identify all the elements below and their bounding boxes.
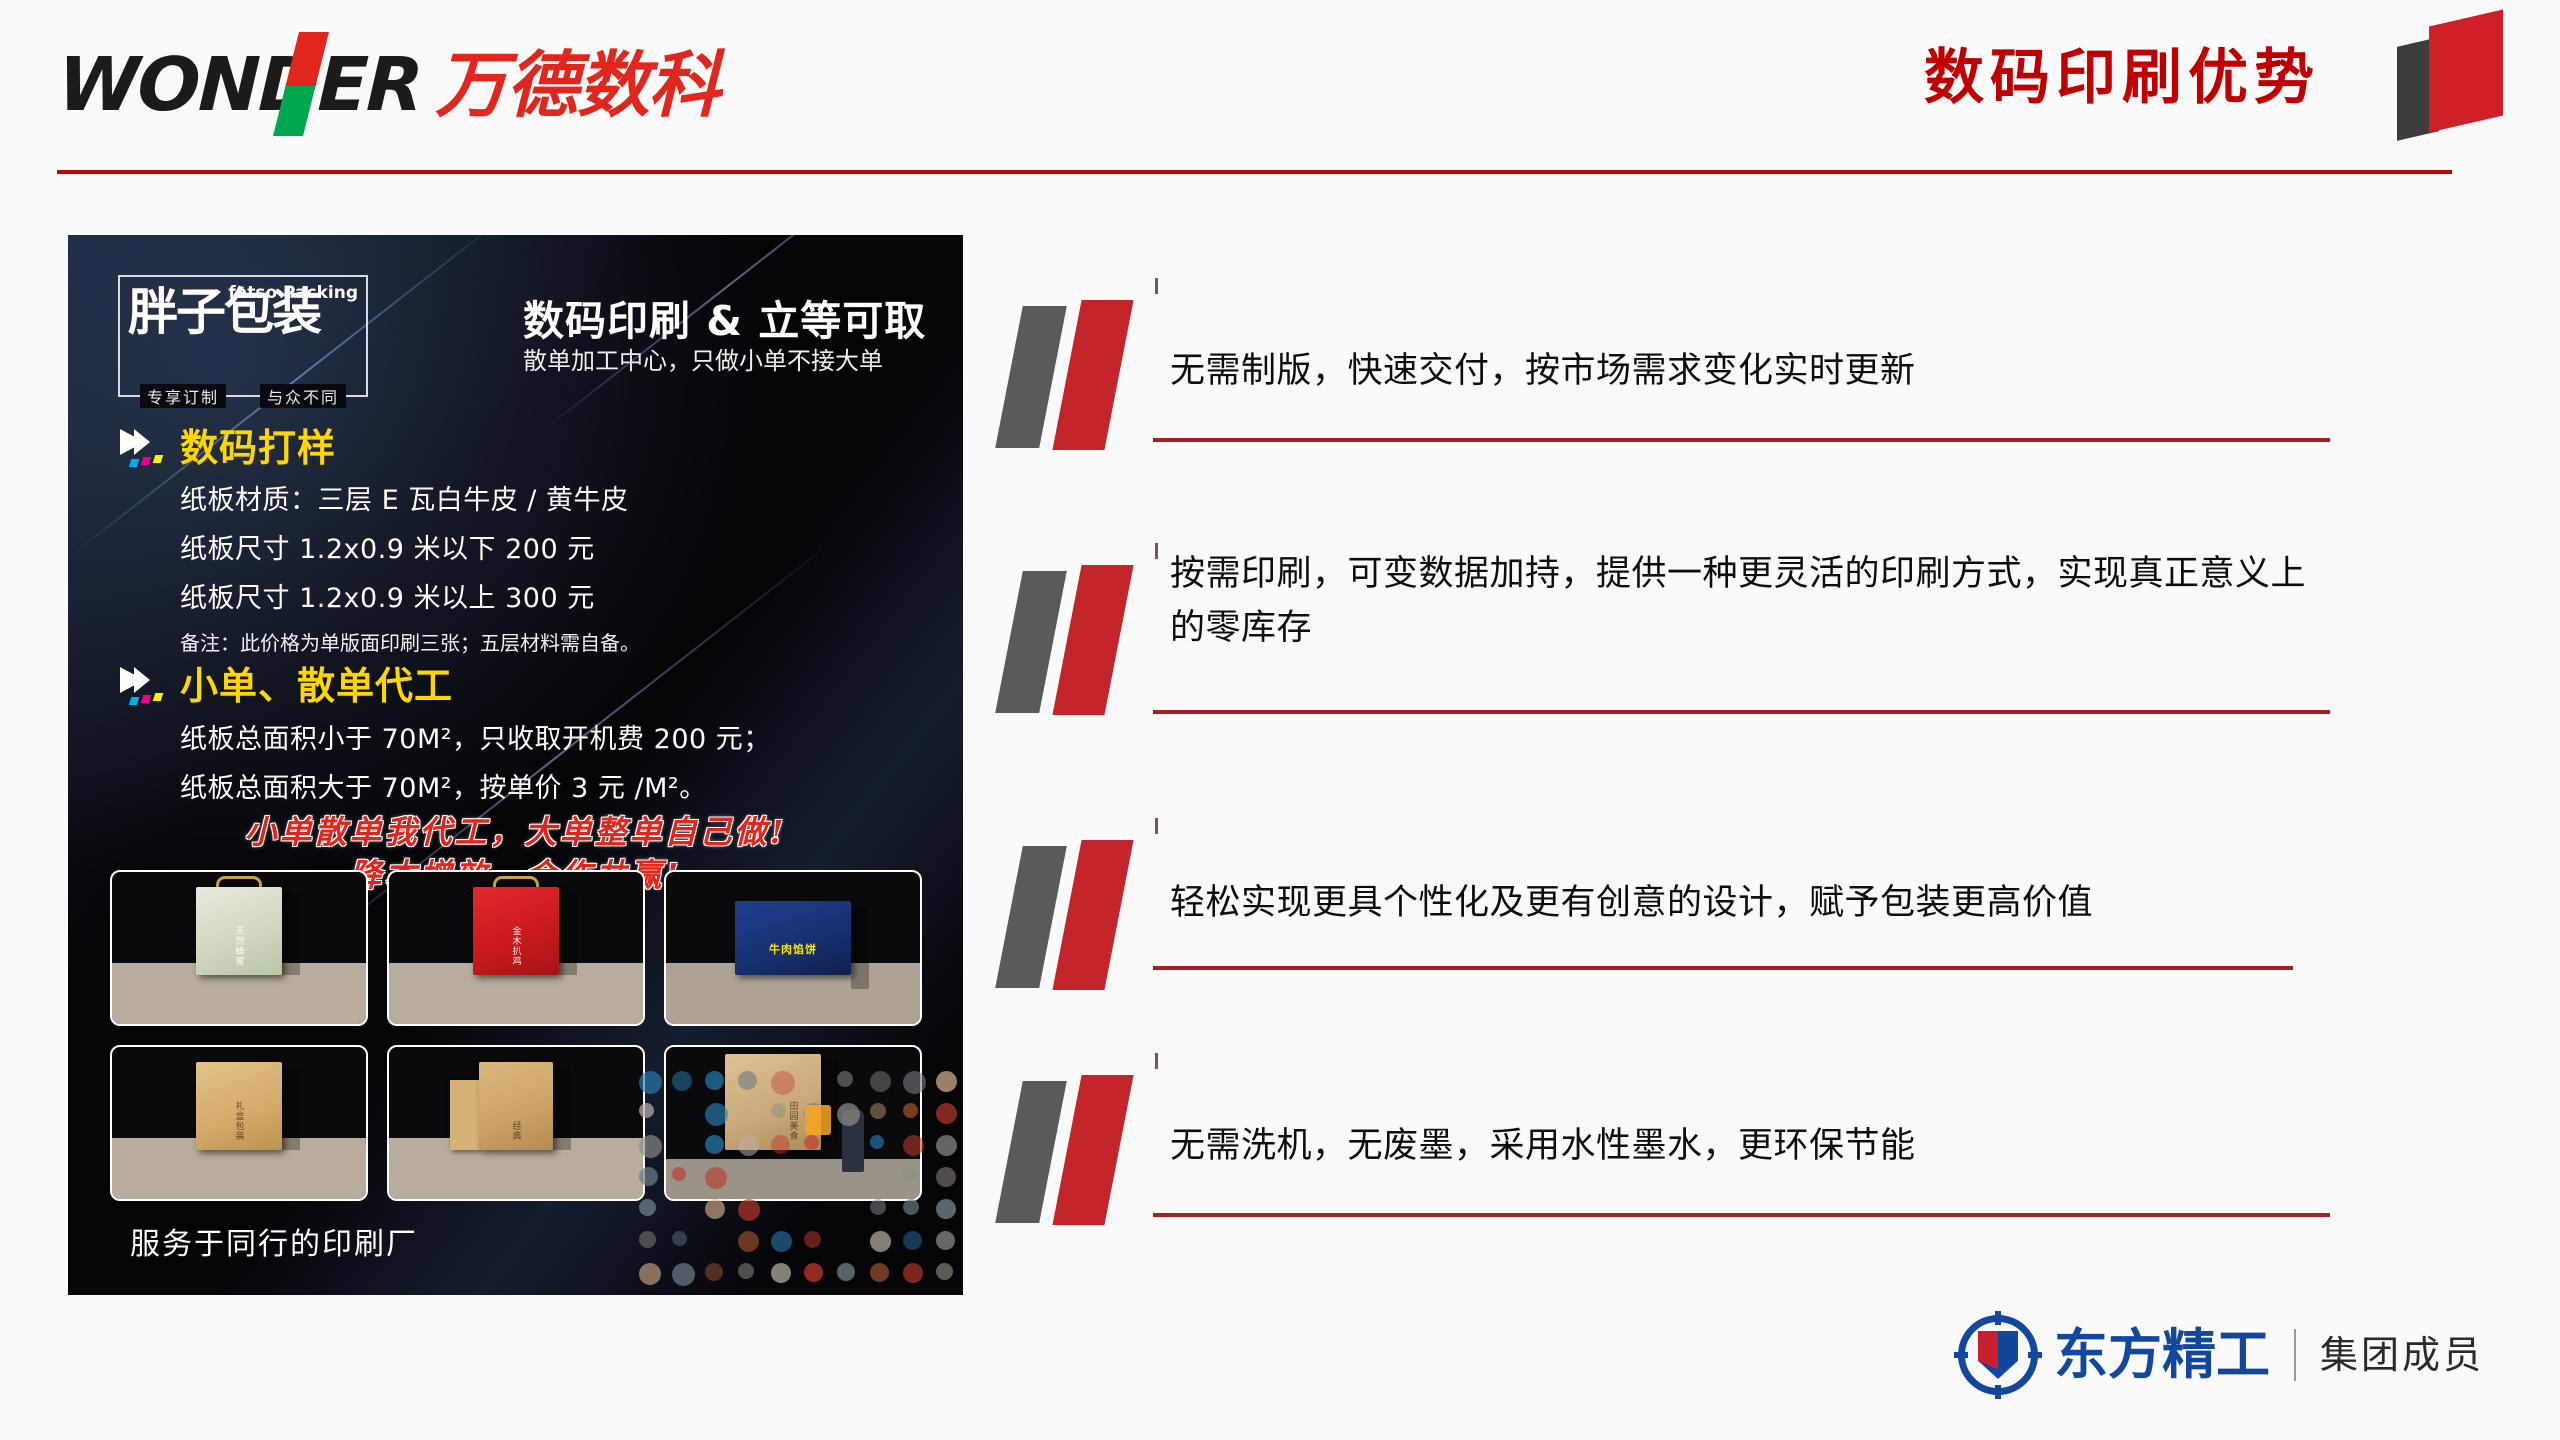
product-photo: 经典 — [387, 1045, 645, 1201]
advantage-underline-1 — [1153, 438, 2330, 442]
poster-section1-note: 备注：此价格为单版面印刷三张；五层材料需自备。 — [180, 627, 640, 656]
page-title: 数码印刷优势 — [1924, 42, 2320, 114]
product-photo-label: 天然蜂蜜 — [233, 926, 246, 966]
poster-dot-pattern — [633, 1065, 963, 1295]
advantage-underline-3 — [1153, 966, 2293, 970]
pattern-dot — [903, 1263, 923, 1283]
poster-section-title-2: 小单、散单代工 — [180, 655, 453, 710]
arrow-marker-icon — [114, 665, 170, 711]
cmyk-dot-cyan — [129, 459, 140, 467]
pattern-dot — [903, 1103, 918, 1118]
poster-section-title-1: 数码打样 — [180, 417, 336, 472]
bullet-marker-bars — [1005, 840, 1155, 990]
pattern-dot — [672, 1231, 687, 1246]
dongfang-emblem-icon — [1958, 1315, 2038, 1395]
advantage-text-1: 无需制版，快速交付，按市场需求变化实时更新 — [1170, 344, 2320, 398]
poster-subtitle: 散单加工中心，只做小单不接大单 — [523, 341, 883, 376]
wonder-brand-logo: WONDER 万德数科 — [58, 48, 719, 132]
advantage-text-4: 无需洗机，无废墨，采用水性墨水，更环保节能 — [1170, 1119, 2320, 1173]
pattern-dot — [738, 1135, 759, 1156]
bullet-marker-bars — [1005, 300, 1155, 450]
pattern-dot — [936, 1103, 957, 1124]
arrow-marker-icon — [114, 427, 170, 473]
poster-slogan-line-1: 小单散单我代工，大单整单自己做! — [68, 807, 963, 853]
pattern-dot — [870, 1135, 884, 1149]
corner-red-shape — [2429, 9, 2503, 132]
pattern-dot — [903, 1231, 922, 1250]
bullet-bar-red — [1052, 1075, 1133, 1225]
poster-section1-line-1: 纸板材质：三层 E 瓦白牛皮 / 黄牛皮 — [180, 478, 629, 517]
product-photo: 牛肉馅饼 — [664, 870, 922, 1026]
pattern-dot — [804, 1135, 819, 1150]
pattern-dot — [705, 1199, 725, 1219]
cmyk-dot-yellow — [153, 455, 164, 463]
wonder-logo-text-cn: 万德数科 — [435, 49, 719, 121]
fatso-tagline-right: 与众不同 — [260, 384, 346, 408]
pattern-dot — [705, 1071, 724, 1090]
bullet-tick-mark — [1155, 1053, 1158, 1069]
advantage-text-3: 轻松实现更具个性化及更有创意的设计，赋予包装更高价值 — [1170, 876, 2330, 930]
bullet-tick-mark — [1155, 278, 1158, 294]
advantage-underline-2 — [1153, 710, 2330, 714]
poster-section1-line-2: 纸板尺寸 1.2x0.9 米以下 200 元 — [180, 527, 595, 566]
pattern-dot — [837, 1263, 855, 1281]
product-photo-label: 经典 — [510, 1121, 523, 1141]
pattern-dot — [738, 1231, 759, 1252]
pattern-dot — [738, 1263, 754, 1279]
poster-title: 数码印刷 & 立等可取 — [523, 287, 926, 347]
pattern-dot — [903, 1167, 918, 1182]
pattern-dot — [936, 1167, 956, 1187]
chevron-right-icon — [134, 429, 150, 455]
company-name: 东方精工 — [2054, 1328, 2270, 1382]
cmyk-dot-yellow — [153, 693, 164, 701]
poster-section2-line-1: 纸板总面积小于 70M²，只收取开机费 200 元； — [180, 717, 771, 756]
pattern-dot — [672, 1263, 695, 1286]
wonder-logo-text: WONDER — [57, 48, 423, 122]
pattern-dot — [870, 1199, 886, 1215]
pattern-dot — [903, 1199, 919, 1215]
pattern-dot — [870, 1231, 891, 1252]
pattern-dot — [705, 1103, 728, 1126]
chevron-right-icon — [134, 667, 150, 693]
group-member-logo: 东方精工 集团成员 — [1958, 1312, 2484, 1398]
header-divider-rule — [57, 170, 2452, 174]
product-photo: 礼盒包装 — [110, 1045, 368, 1201]
poster-section2-line-2: 纸板总面积大于 70M²，按单价 3 元 /M²。 — [180, 766, 707, 805]
pattern-dot — [870, 1263, 889, 1282]
bullet-tick-mark — [1155, 818, 1158, 834]
advantage-text-2: 按需印刷，可变数据加持，提供一种更灵活的印刷方式，实现真正意义上的零库存 — [1170, 547, 2330, 656]
fatso-tagline-left: 专享订制 — [140, 384, 226, 408]
cmyk-dot-magenta — [141, 457, 152, 465]
poster-section1-line-3: 纸板尺寸 1.2x0.9 米以上 300 元 — [180, 576, 595, 615]
pattern-dot — [672, 1071, 692, 1091]
pattern-dot — [936, 1135, 957, 1156]
pattern-dot — [936, 1071, 957, 1092]
pattern-dot — [639, 1231, 656, 1248]
pattern-dot — [705, 1167, 727, 1189]
fatso-badge-taglines: 专享订制 与众不同 — [120, 384, 366, 408]
pattern-dot — [738, 1071, 757, 1090]
bullet-bar-red — [1052, 840, 1133, 990]
pattern-dot — [771, 1231, 792, 1252]
packaging-box — [735, 901, 851, 975]
bullet-marker-bars — [1005, 1075, 1155, 1225]
pattern-dot — [672, 1167, 686, 1181]
pattern-dot — [771, 1103, 786, 1118]
emblem-tick-top — [1995, 1311, 2001, 1325]
product-photo: 金木扒鸡 — [387, 870, 645, 1026]
pattern-dot — [705, 1135, 724, 1154]
pattern-dot — [705, 1263, 723, 1281]
footer-divider — [2294, 1329, 2296, 1381]
member-label: 集团成员 — [2320, 1336, 2484, 1374]
bullet-bar-red — [1052, 300, 1133, 450]
wonder-wordmark: WONDER — [58, 48, 421, 122]
emblem-tick-left — [1954, 1352, 1968, 1358]
pattern-dot — [903, 1071, 926, 1094]
product-photo-label: 礼盒包装 — [233, 1101, 246, 1141]
pattern-dot — [804, 1263, 823, 1282]
fatso-badge-text-en: fatso Packing — [228, 283, 358, 303]
page-header: WONDER 万德数科 数码印刷优势 — [0, 0, 2560, 175]
pattern-dot — [771, 1263, 791, 1283]
product-photo: 天然蜂蜜 — [110, 870, 368, 1026]
bullet-marker-bars — [1005, 565, 1155, 715]
bullet-tick-mark — [1155, 543, 1158, 559]
pattern-dot — [837, 1071, 853, 1087]
pattern-dot — [639, 1103, 654, 1118]
packaging-box-small — [450, 1080, 480, 1150]
pattern-dot-highlight — [805, 1105, 831, 1135]
pattern-dot — [936, 1263, 953, 1280]
emblem-tick-bottom — [1995, 1385, 2001, 1399]
product-photo-label: 金木扒鸡 — [510, 926, 523, 966]
pattern-dot — [639, 1071, 662, 1094]
pattern-dot — [639, 1263, 661, 1285]
pattern-dot — [804, 1231, 821, 1248]
pattern-dot — [870, 1103, 886, 1119]
poster-footer-text: 服务于同行的印刷厂 — [130, 1219, 418, 1263]
pattern-dot — [837, 1103, 860, 1126]
product-photo-label: 牛肉馅饼 — [769, 941, 817, 957]
corner-decoration-icon — [2397, 8, 2507, 136]
pattern-dot — [936, 1199, 956, 1219]
pattern-dot — [903, 1135, 924, 1156]
advantage-underline-4 — [1153, 1213, 2330, 1217]
pattern-dot — [936, 1231, 955, 1250]
bullet-bar-red — [1052, 565, 1133, 715]
pattern-dot — [639, 1199, 656, 1216]
emblem-tick-right — [2028, 1352, 2042, 1358]
promo-poster-image: 胖子包装 fatso Packing 专享订制 与众不同 数码印刷 & 立等可取… — [68, 235, 963, 1295]
pattern-dot — [639, 1167, 658, 1186]
pattern-dot — [738, 1199, 760, 1221]
fatso-packing-badge: 胖子包装 fatso Packing 专享订制 与众不同 — [118, 275, 368, 397]
pattern-dot — [639, 1135, 662, 1158]
pattern-dot — [771, 1071, 795, 1095]
pattern-dot — [771, 1135, 790, 1154]
cmyk-dot-cyan — [129, 697, 140, 705]
cmyk-dot-magenta — [141, 695, 152, 703]
pattern-dot — [870, 1071, 891, 1092]
